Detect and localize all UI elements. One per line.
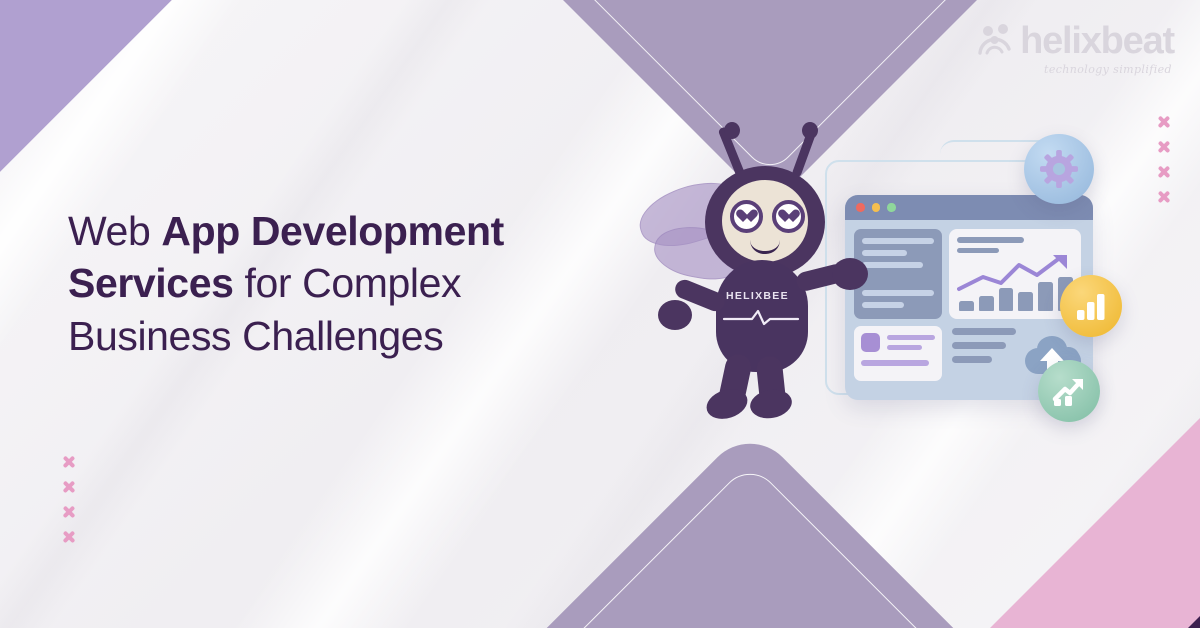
heart-eye-icon: [730, 200, 763, 233]
gear-icon: [1040, 150, 1078, 188]
heartbeat-line-icon: [722, 308, 800, 326]
headline-part-1: Web: [68, 208, 161, 254]
hero-banner: helixbeat technology simplified Web App …: [0, 0, 1200, 628]
headline-part-3: Services: [68, 260, 234, 306]
people-arc-icon: [978, 23, 1012, 60]
headline-part-5: Business Challenges: [68, 313, 443, 359]
hand-right: [832, 258, 868, 290]
headline-part-2: App Development: [161, 208, 504, 254]
x-pattern-bottom-left: [62, 455, 75, 543]
bar-chart-icon: [1075, 291, 1107, 321]
bar-chart-badge[interactable]: [1060, 275, 1122, 337]
mascot-helixbee: HELIXBEE: [650, 118, 890, 428]
antenna-right-tip: [802, 122, 818, 139]
x-icon: [62, 455, 75, 468]
logo-wordmark: helixbeat: [1020, 22, 1174, 60]
bar-chart: [959, 269, 1073, 311]
gear-badge[interactable]: [1024, 134, 1094, 204]
logo-tagline: technology simplified: [1044, 63, 1172, 76]
mascot-chest-label: HELIXBEE: [726, 290, 789, 302]
hand-left: [658, 300, 692, 330]
x-icon: [62, 480, 75, 493]
page-title: Web App Development Services for Complex…: [68, 205, 628, 362]
content-lines: [952, 328, 1016, 363]
growth-chart-badge[interactable]: [1038, 360, 1100, 422]
x-icon: [62, 505, 75, 518]
headline-part-4: for Complex: [234, 260, 462, 306]
hero-illustration: HELIXBEE: [640, 100, 1180, 460]
heart-eye-icon: [772, 200, 805, 233]
x-icon: [62, 530, 75, 543]
growth-arrow-icon: [1052, 375, 1086, 407]
foot-right: [748, 387, 794, 422]
brand-logo[interactable]: helixbeat technology simplified: [978, 22, 1174, 76]
antenna-left-tip: [724, 122, 740, 139]
